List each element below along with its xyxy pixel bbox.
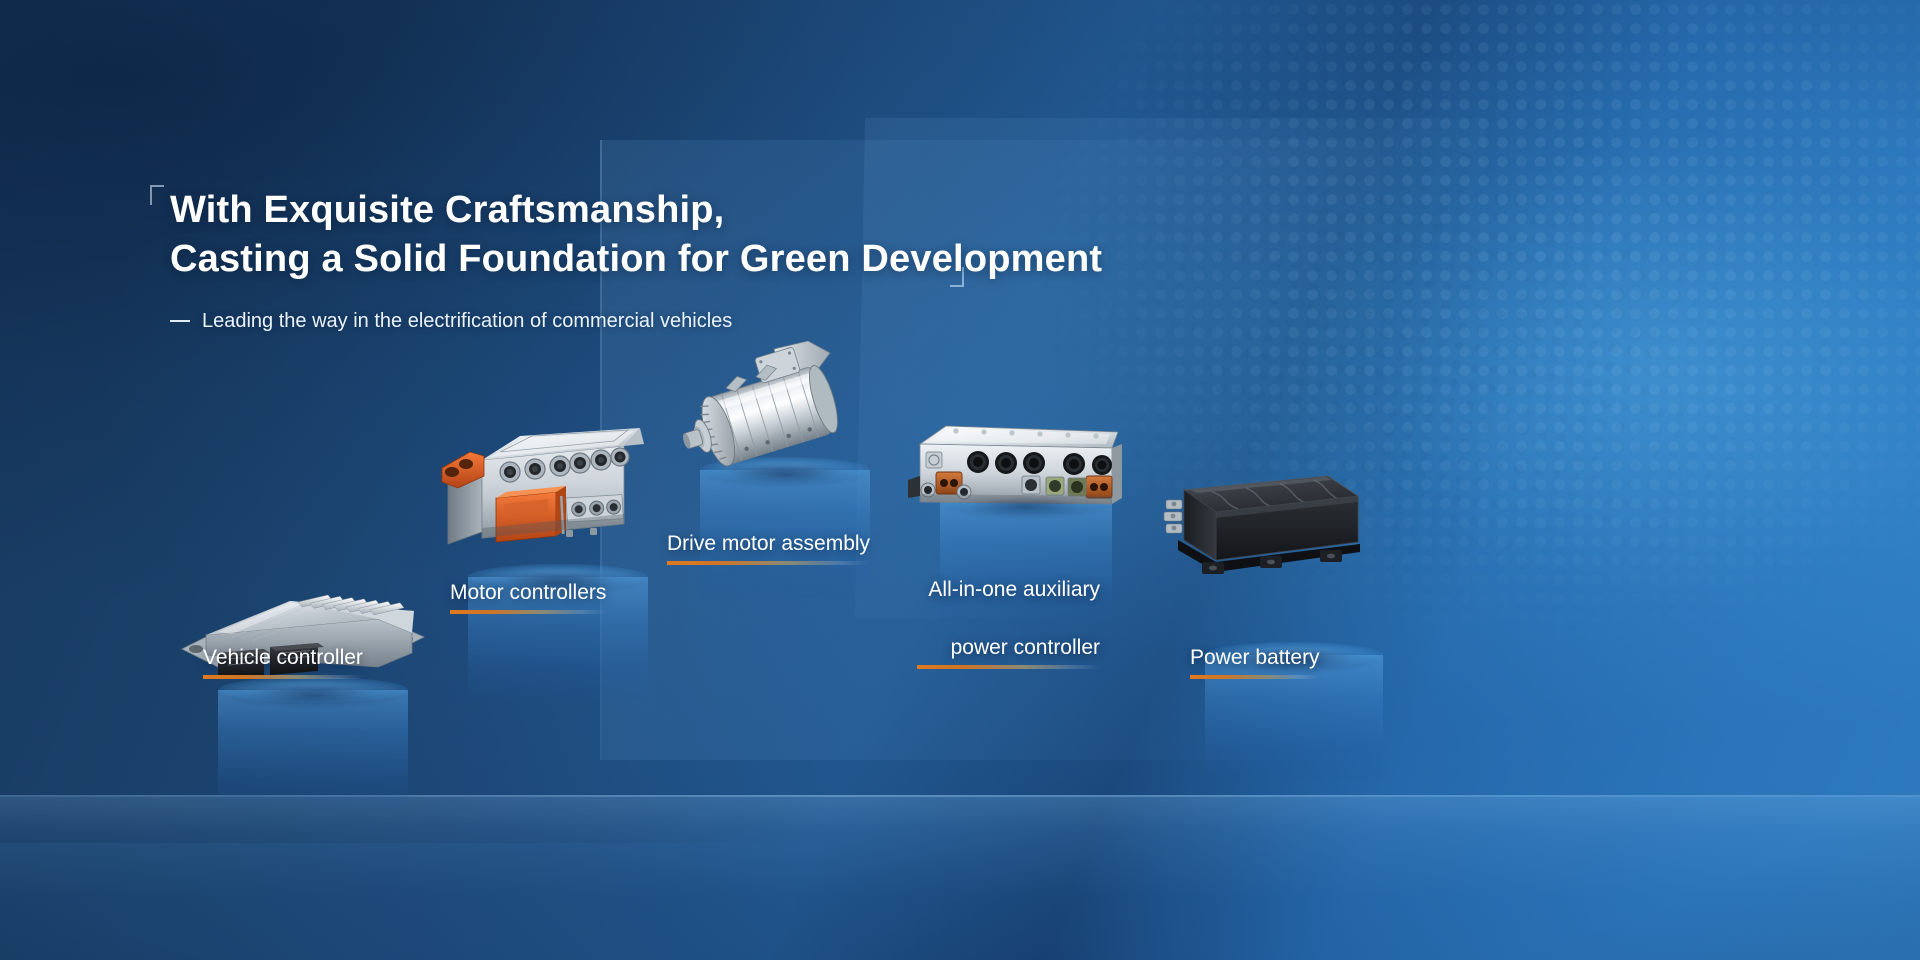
vignette-overlay <box>0 0 1920 960</box>
hero-banner: With Exquisite Craftsmanship, Casting a … <box>0 0 1920 960</box>
